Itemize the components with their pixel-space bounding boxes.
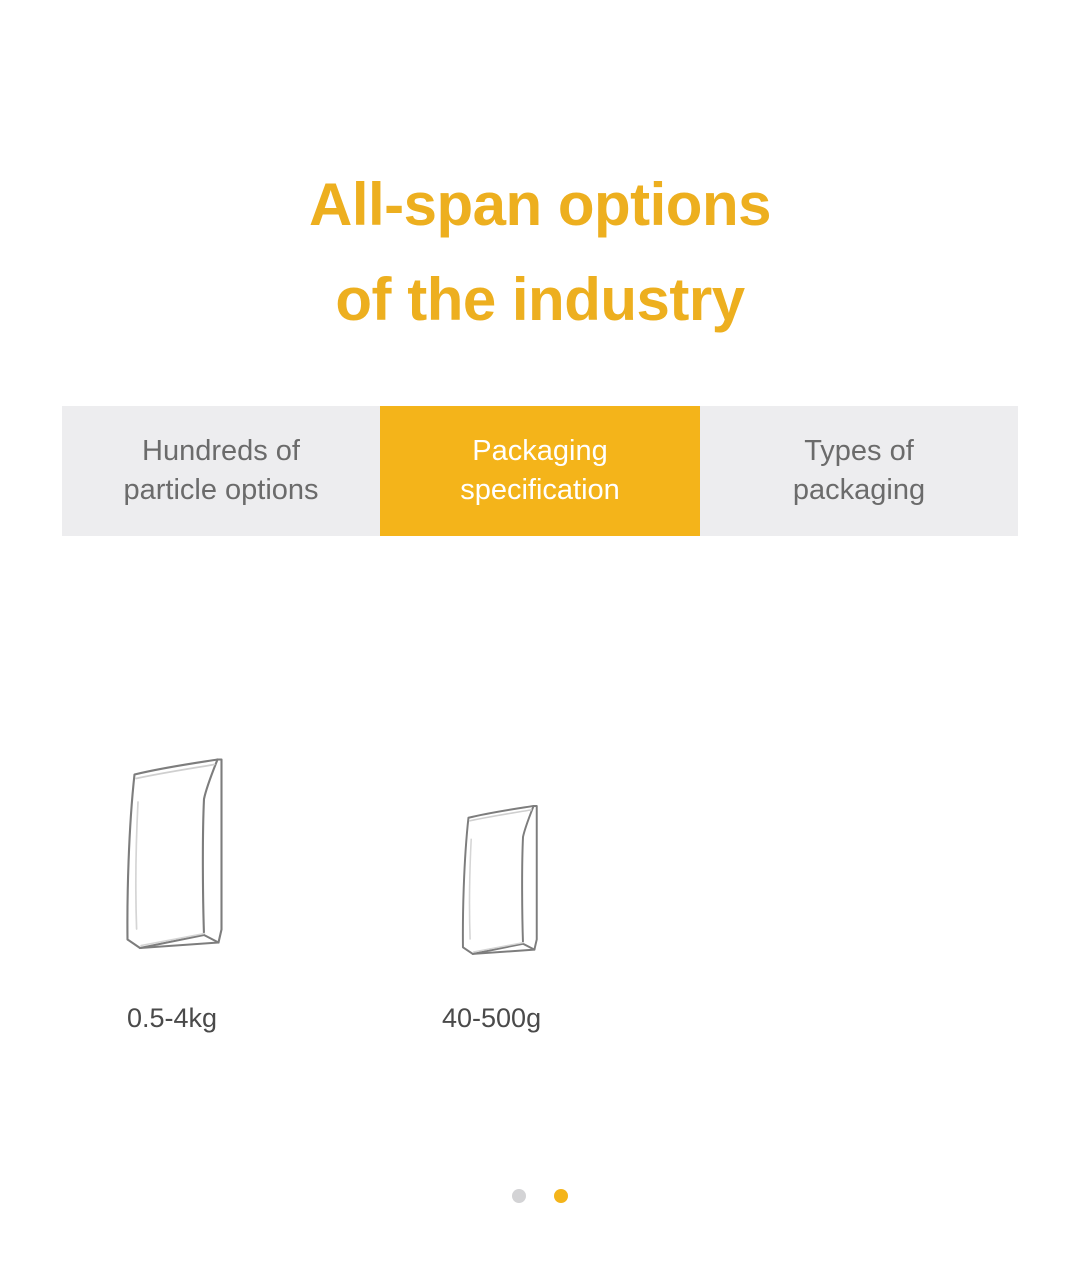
tab-bar: Hundreds of particle options Packaging s…: [62, 406, 1018, 536]
spec-label: 40-500g: [442, 1005, 560, 1032]
tab-packaging-specification[interactable]: Packaging specification: [380, 406, 700, 536]
spec-item[interactable]: 0.5-4kg: [118, 757, 238, 1032]
pagination-dot-2[interactable]: [554, 1189, 568, 1203]
spec-label: 0.5-4kg: [127, 1005, 238, 1032]
tab-label: Types of packaging: [793, 432, 925, 509]
packaging-bag-small-icon: [440, 757, 560, 957]
carousel-pagination: [0, 1189, 1080, 1203]
page-title: All-span options of the industry: [0, 158, 1080, 348]
tab-particle-options[interactable]: Hundreds of particle options: [62, 406, 380, 536]
tab-label: Hundreds of particle options: [123, 432, 318, 509]
spec-item[interactable]: 40-500g: [440, 757, 560, 1032]
pagination-dot-1[interactable]: [512, 1189, 526, 1203]
tab-types-of-packaging[interactable]: Types of packaging: [700, 406, 1018, 536]
tab-label: Packaging specification: [460, 432, 620, 509]
packaging-spec-list: 0.5-4kg 40-500g: [0, 745, 1080, 1055]
packaging-bag-large-icon: [118, 757, 238, 957]
